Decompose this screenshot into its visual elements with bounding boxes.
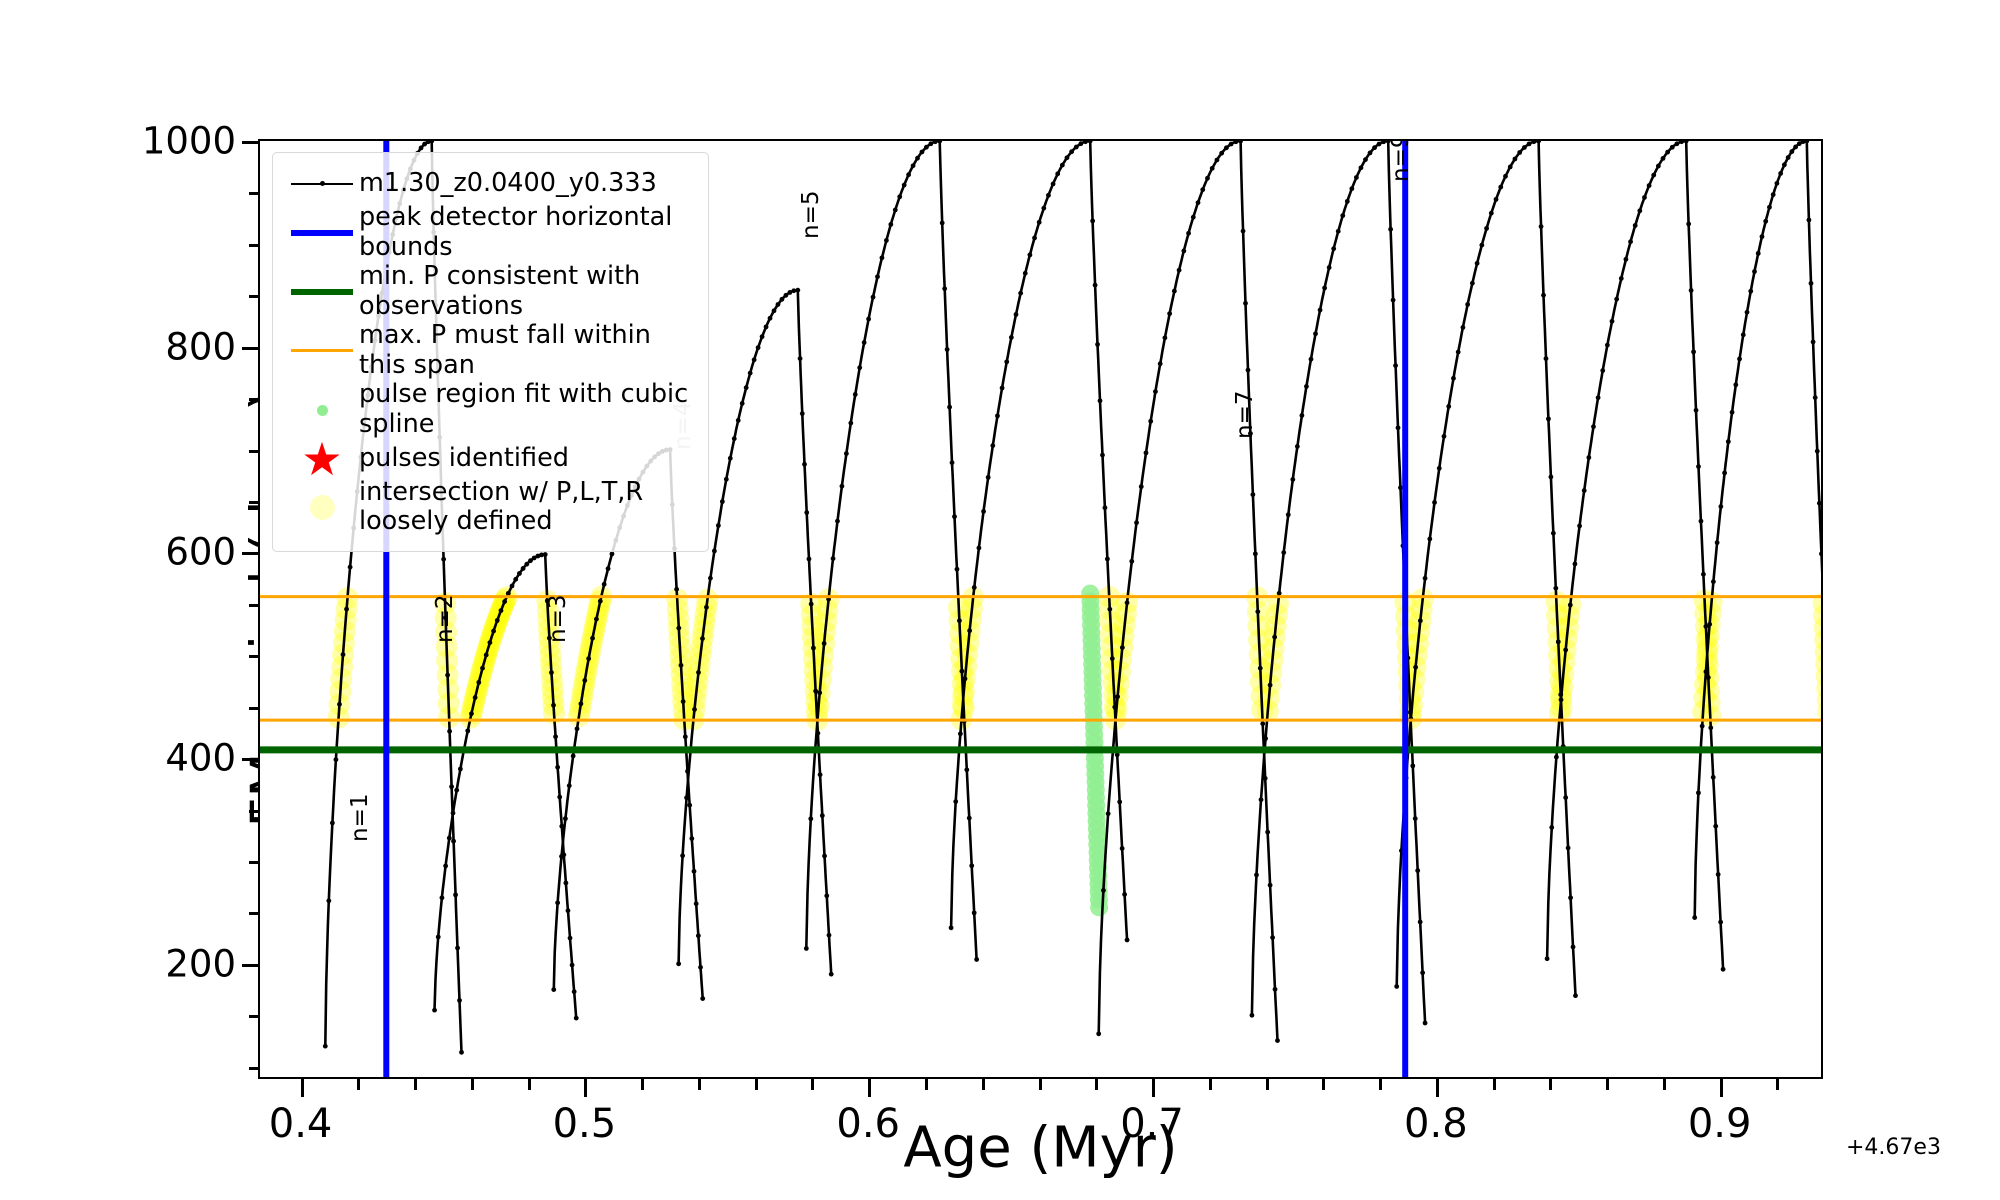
track-point — [1707, 622, 1712, 627]
x-tick-minor — [471, 1079, 474, 1090]
track-point — [1536, 141, 1541, 143]
track-point — [473, 695, 478, 700]
track-point — [807, 557, 812, 562]
track-point — [1624, 257, 1629, 262]
x-tick-minor — [1266, 1079, 1269, 1090]
track-point — [906, 172, 911, 177]
track-point — [760, 334, 765, 339]
legend-item-label: m1.30_z0.0400_y0.333 — [359, 169, 657, 199]
x-tick-major — [868, 1079, 871, 1097]
track-point — [1037, 220, 1042, 225]
track-point — [959, 669, 964, 674]
track-point — [952, 514, 957, 519]
track-point — [344, 607, 349, 612]
legend-item-label: pulse region fit with cubic spline — [359, 380, 696, 439]
track-point — [1498, 185, 1503, 190]
track-point — [453, 892, 458, 897]
track-point — [445, 673, 450, 678]
legend[interactable]: m1.30_z0.0400_y0.333peak detector horizo… — [272, 152, 709, 552]
track-point — [676, 626, 681, 631]
track-point — [835, 519, 840, 524]
track-point — [964, 767, 969, 772]
track-point — [808, 816, 813, 821]
track-point — [1553, 586, 1558, 591]
track-point — [469, 711, 474, 716]
track-point — [551, 703, 556, 708]
track-point — [1304, 384, 1309, 389]
y-tick-minor — [249, 398, 258, 401]
track-point — [844, 451, 849, 456]
track-point — [1733, 382, 1738, 387]
legend-item[interactable]: min. P consistent with observations — [285, 262, 696, 321]
y-tick-minor — [249, 604, 258, 607]
legend-line-marker-icon — [285, 165, 359, 203]
track-point — [341, 652, 346, 657]
track-point — [1396, 425, 1401, 430]
curve-label-n-2: n=2 — [432, 594, 458, 642]
curve-label-n-7: n=7 — [1232, 391, 1258, 439]
track-point — [513, 577, 518, 582]
track-point — [451, 811, 456, 816]
track-point — [700, 996, 705, 1001]
track-point — [1295, 444, 1300, 449]
track-point — [1413, 816, 1418, 821]
track-point — [1813, 395, 1818, 400]
track-point — [326, 898, 331, 903]
track-point — [1432, 500, 1437, 505]
track-point — [1661, 156, 1666, 161]
track-point — [1465, 302, 1470, 307]
track-point — [1110, 656, 1115, 661]
track-point — [1186, 231, 1191, 236]
legend-item[interactable]: m1.30_z0.0400_y0.333 — [285, 165, 696, 203]
track-point — [1331, 246, 1336, 251]
track-point — [953, 799, 958, 804]
track-point — [451, 839, 456, 844]
track-point — [570, 963, 575, 968]
track-point — [1260, 721, 1265, 726]
track-point — [822, 854, 827, 859]
track-point — [1286, 512, 1291, 517]
y-tick-minor — [249, 655, 258, 658]
track-point — [1737, 357, 1742, 362]
track-point — [1418, 920, 1423, 925]
curve-label-n-8: n=8 — [1241, 139, 1267, 141]
y-tick-major — [242, 758, 258, 761]
track-point — [1273, 987, 1278, 992]
track-point — [1811, 340, 1816, 345]
track-point — [1461, 325, 1466, 330]
track-point — [728, 456, 733, 461]
track-point — [1804, 141, 1809, 143]
track-point — [334, 757, 339, 762]
track-point — [969, 863, 974, 868]
track-point — [572, 989, 577, 994]
track-point — [1117, 800, 1122, 805]
legend-item[interactable]: peak detector horizontal bounds — [285, 203, 696, 262]
track-point — [947, 405, 952, 410]
track-point — [1451, 376, 1456, 381]
track-point — [563, 881, 568, 886]
track-point — [1708, 725, 1713, 730]
y-tick-label: 1000 — [142, 120, 236, 163]
track-point — [1107, 607, 1112, 612]
track-point — [798, 356, 803, 361]
x-tick-minor — [1606, 1079, 1609, 1090]
y-tick-minor — [249, 707, 258, 710]
x-tick-minor — [528, 1079, 531, 1090]
track-point — [1610, 319, 1615, 324]
track-point — [800, 411, 805, 416]
track-point — [1060, 163, 1065, 168]
track-point — [1752, 269, 1757, 274]
legend-item[interactable]: max. P must fall within this span — [285, 321, 696, 380]
track-point — [1548, 475, 1553, 480]
track-point — [1277, 591, 1282, 596]
track-point — [1349, 186, 1354, 191]
y-tick-major — [242, 552, 258, 555]
track-point — [866, 317, 871, 322]
track-point — [1423, 576, 1428, 581]
track-point — [1582, 488, 1587, 493]
track-point — [949, 925, 954, 930]
track-point — [563, 816, 568, 821]
track-point — [1767, 205, 1772, 210]
track-point — [1101, 888, 1106, 893]
track-point — [1388, 227, 1393, 232]
track-point — [736, 418, 741, 423]
curve-label-n-6: n=6 — [940, 139, 966, 141]
track-point — [1715, 540, 1720, 545]
track-point — [795, 288, 800, 293]
track-point — [436, 935, 441, 940]
track-point — [804, 510, 809, 515]
track-point — [1619, 276, 1624, 281]
track-point — [1253, 551, 1258, 556]
track-point — [549, 670, 554, 675]
track-point — [818, 772, 823, 777]
x-tick-major — [1720, 1079, 1723, 1097]
track-point — [1172, 289, 1177, 294]
track-point — [567, 783, 572, 788]
track-point — [1718, 920, 1723, 925]
track-point — [827, 933, 832, 938]
track-point — [1074, 145, 1079, 150]
track-point — [990, 443, 995, 448]
track-point — [553, 734, 558, 739]
track-point — [610, 552, 615, 557]
track-point — [1692, 915, 1697, 920]
legend-item-label: pulses identified — [359, 444, 569, 474]
y-tick-major — [242, 141, 258, 144]
track-point — [476, 680, 481, 685]
track-point — [1699, 519, 1704, 524]
track-point — [1721, 967, 1726, 972]
track-point — [1809, 281, 1814, 286]
track-point — [1144, 450, 1149, 455]
track-point — [1545, 956, 1550, 961]
spline-point — [1081, 585, 1099, 603]
track-point — [1701, 572, 1706, 577]
y-axis-label-wrap: FM period (days) — [60, 139, 120, 1079]
track-point — [1275, 1038, 1280, 1043]
track-point — [575, 726, 580, 731]
track-point — [1684, 141, 1689, 143]
track-point — [1670, 145, 1675, 150]
track-point — [1158, 361, 1163, 366]
y-tick-label: 400 — [165, 737, 236, 780]
legend-item-label: peak detector horizontal bounds — [359, 203, 696, 262]
track-point — [784, 293, 789, 298]
legend-yellow-dot-icon — [285, 488, 359, 526]
track-point — [1563, 648, 1568, 653]
x-tick-minor — [641, 1079, 644, 1090]
legend-thin-line-icon — [285, 332, 359, 370]
track-point — [684, 795, 689, 800]
track-point — [1051, 181, 1056, 186]
track-point — [1748, 289, 1753, 294]
track-point — [458, 767, 463, 772]
curve-label-n-3: n=3 — [545, 594, 571, 642]
track-point — [441, 557, 446, 562]
track-point — [696, 670, 701, 675]
x-tick-major — [1436, 1079, 1439, 1097]
y-tick-minor — [249, 861, 258, 864]
track-point — [457, 998, 462, 1003]
track-point — [1219, 151, 1224, 156]
y-tick-minor — [249, 501, 258, 504]
legend-item[interactable]: ★pulses identified — [285, 440, 696, 478]
track-point — [1571, 945, 1576, 950]
legend-item[interactable]: intersection w/ P,L,T,R loosely defined — [285, 478, 696, 537]
track-point — [884, 238, 889, 243]
track-point — [1148, 419, 1153, 424]
track-point — [822, 641, 827, 646]
track-point — [1270, 935, 1275, 940]
track-point — [1153, 389, 1158, 394]
track-point — [848, 421, 853, 426]
track-point — [506, 591, 511, 596]
track-point — [499, 608, 504, 613]
track-point — [1689, 288, 1694, 293]
track-point — [1254, 873, 1259, 878]
track-point — [557, 795, 562, 800]
track-point — [590, 636, 595, 641]
track-point — [981, 509, 986, 514]
track-point — [1437, 466, 1442, 471]
track-point — [744, 385, 749, 390]
track-point — [606, 566, 611, 571]
track-point — [1309, 357, 1314, 362]
track-point — [1718, 504, 1723, 509]
track-point — [945, 347, 950, 352]
track-point — [853, 392, 858, 397]
track-point — [1544, 356, 1549, 361]
track-point — [756, 345, 761, 350]
x-tick-minor — [1663, 1079, 1666, 1090]
track-point — [1745, 310, 1750, 315]
track-point — [1546, 416, 1551, 421]
track-point — [1090, 219, 1095, 224]
track-point — [1224, 145, 1229, 150]
curve-label-n-9: n=9 — [1388, 139, 1414, 182]
track-point — [683, 734, 688, 739]
x-tick-minor — [811, 1079, 814, 1090]
y-tick-major — [242, 964, 258, 967]
track-point — [1241, 229, 1246, 234]
track-point — [1513, 157, 1518, 162]
track-point — [1250, 492, 1255, 497]
track-point — [817, 690, 822, 695]
track-point — [1093, 283, 1098, 288]
track-point — [551, 987, 556, 992]
track-point — [1263, 736, 1268, 741]
track-point — [680, 853, 685, 858]
track-point — [720, 499, 725, 504]
track-point — [330, 821, 335, 826]
track-point — [875, 274, 880, 279]
track-point — [1028, 252, 1033, 257]
track-point — [1018, 291, 1023, 296]
track-point — [1760, 234, 1765, 239]
legend-item-label: max. P must fall within this span — [359, 321, 696, 380]
legend-item[interactable]: pulse region fit with cubic spline — [285, 380, 696, 439]
track-point — [724, 477, 729, 482]
x-tick-minor — [1776, 1079, 1779, 1090]
track-point — [1095, 342, 1100, 347]
track-point — [1318, 308, 1323, 313]
track-point — [1368, 150, 1373, 155]
track-point — [1559, 697, 1564, 702]
track-point — [1427, 537, 1432, 542]
track-point — [1686, 221, 1691, 226]
track-point — [692, 869, 697, 874]
track-point — [748, 371, 753, 376]
track-point — [1596, 395, 1601, 400]
legend-green-dot-icon — [285, 391, 359, 429]
y-tick-minor — [249, 244, 258, 247]
track-point — [566, 908, 571, 913]
track-point — [1272, 635, 1277, 640]
track-point — [602, 582, 607, 587]
track-point — [1539, 224, 1544, 229]
track-point — [1527, 141, 1532, 146]
track-point — [862, 340, 867, 345]
track-point — [1819, 551, 1821, 556]
track-point — [840, 484, 845, 489]
track-point — [1775, 181, 1780, 186]
track-point — [1696, 464, 1701, 469]
x-tick-minor — [1095, 1079, 1098, 1090]
track-point — [1763, 219, 1768, 224]
track-point — [1009, 335, 1014, 340]
x-tick-minor — [1493, 1079, 1496, 1090]
track-point — [1591, 424, 1596, 429]
track-point — [480, 666, 485, 671]
track-point — [831, 556, 836, 561]
track-point — [1551, 531, 1556, 536]
track-point — [940, 221, 945, 226]
track-point — [1258, 666, 1263, 671]
track-point — [716, 523, 721, 528]
track-point — [712, 549, 717, 554]
track-point — [1442, 434, 1447, 439]
y-tick-minor — [249, 295, 258, 298]
track-point — [582, 678, 587, 683]
track-point — [977, 546, 982, 551]
track-point — [1793, 145, 1798, 150]
track-point — [1354, 175, 1359, 180]
track-point — [674, 587, 679, 592]
fm-period-track — [806, 141, 976, 960]
track-point — [1391, 298, 1396, 303]
y-tick-minor — [249, 1015, 258, 1018]
track-point — [963, 676, 968, 681]
track-point — [809, 602, 814, 607]
track-point — [1098, 398, 1103, 403]
track-point — [893, 207, 898, 212]
track-point — [510, 584, 515, 589]
track-point — [1691, 349, 1696, 354]
track-point — [1651, 173, 1656, 178]
track-point — [1413, 665, 1418, 670]
track-point — [696, 933, 701, 938]
track-point — [1605, 343, 1610, 348]
track-point — [1418, 618, 1423, 623]
y-tick-major — [242, 347, 258, 350]
track-point — [857, 365, 862, 370]
track-point — [1163, 335, 1168, 340]
track-point — [967, 628, 972, 633]
track-point — [1817, 501, 1821, 506]
track-point — [902, 183, 907, 188]
track-point — [1265, 830, 1270, 835]
track-point — [1541, 293, 1546, 298]
track-point — [1268, 883, 1273, 888]
x-tick-minor — [982, 1079, 985, 1090]
track-point — [447, 729, 452, 734]
y-tick-minor — [249, 450, 258, 453]
track-point — [804, 946, 809, 951]
x-tick-minor — [357, 1079, 360, 1090]
track-point — [1177, 268, 1182, 273]
track-point — [732, 436, 737, 441]
legend-item-label: intersection w/ P,L,T,R loosely defined — [359, 478, 643, 537]
track-point — [1807, 218, 1812, 223]
track-point — [568, 936, 573, 941]
track-point — [1078, 141, 1083, 146]
track-point — [937, 141, 942, 143]
track-point — [958, 731, 963, 736]
track-point — [1656, 164, 1661, 169]
track-point — [1167, 311, 1172, 316]
track-point — [776, 302, 781, 307]
track-point — [1023, 271, 1028, 276]
track-point — [1398, 485, 1403, 490]
track-point — [1475, 261, 1480, 266]
track-point — [1782, 162, 1787, 167]
track-point — [495, 618, 500, 623]
track-point — [1494, 197, 1499, 202]
track-point — [1730, 410, 1735, 415]
track-point — [1359, 165, 1364, 170]
track-point — [1181, 249, 1186, 254]
track-point — [1250, 1013, 1255, 1018]
track-point — [1614, 297, 1619, 302]
x-tick-minor — [1209, 1079, 1212, 1090]
track-point — [1726, 439, 1731, 444]
track-point — [1771, 192, 1776, 197]
